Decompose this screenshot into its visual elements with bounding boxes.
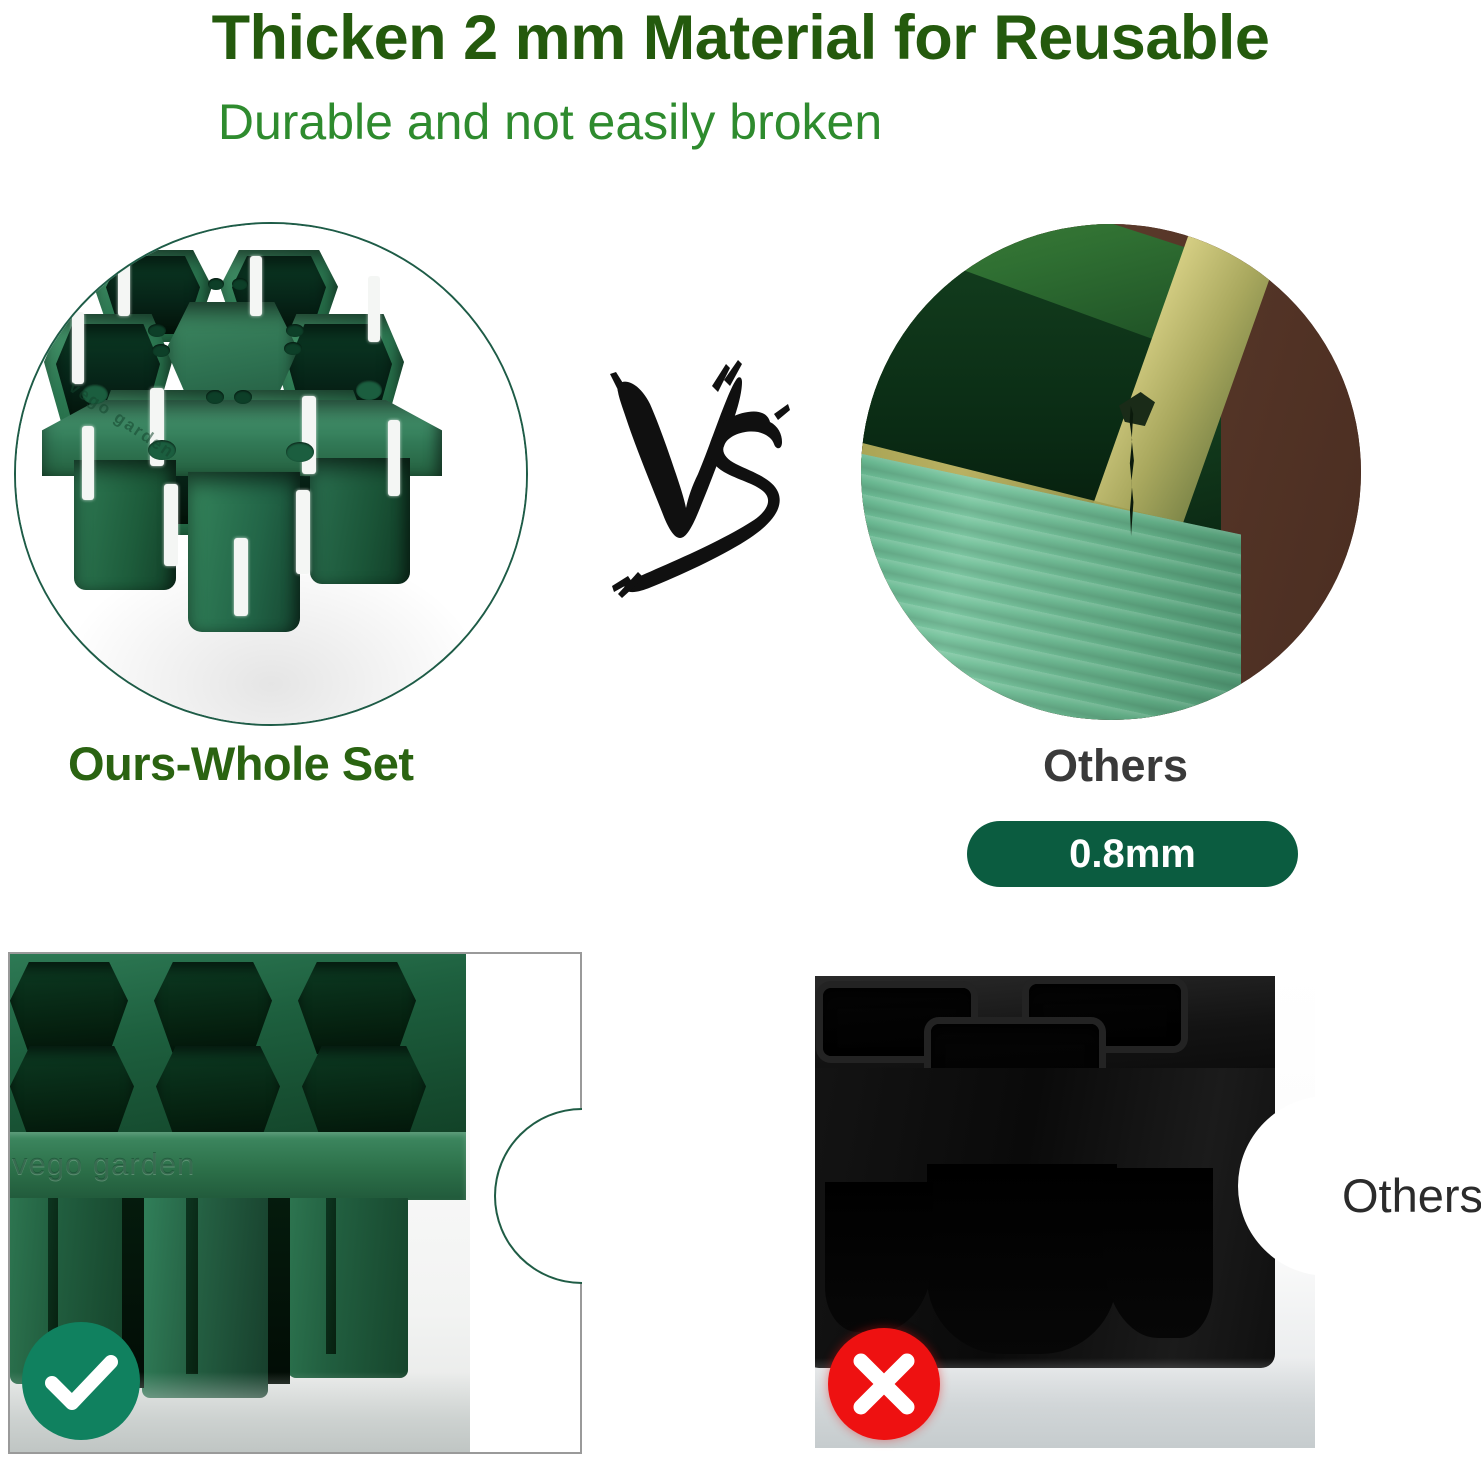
others-label: Others <box>1043 740 1188 792</box>
good-panel-notch <box>494 1108 582 1284</box>
others-product-circle-image <box>861 224 1361 720</box>
others-bottom-label: Others <box>1342 1168 1481 1223</box>
x-icon <box>828 1328 940 1440</box>
check-icon <box>22 1322 140 1440</box>
top-comparison-row: vego garden <box>0 0 1481 940</box>
thickness-badge: 0.8mm <box>967 821 1298 887</box>
vs-icon <box>592 352 808 610</box>
ours-tray-body: vego garden <box>38 250 504 650</box>
ours-tray-photo: vego garden <box>16 224 526 724</box>
vego-garden-emboss-label: vego garden <box>12 1146 195 1182</box>
ours-product-circle-image: vego garden <box>14 222 528 726</box>
ours-label: Ours-Whole Set <box>68 736 414 791</box>
